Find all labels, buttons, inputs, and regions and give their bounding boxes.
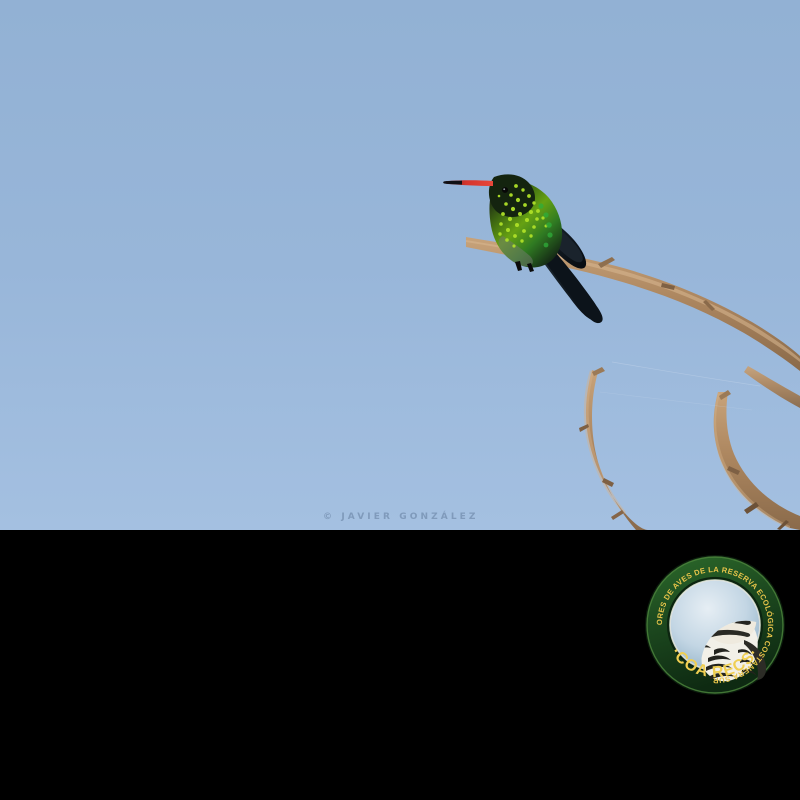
logo-badge: CLUB DE OBSERVADORES DE AVES DE LA RESER… xyxy=(644,554,786,696)
photographer-watermark: © JAVIER GONZÁLEZ xyxy=(323,512,479,522)
bird-photograph: © JAVIER GONZÁLEZ xyxy=(0,0,800,530)
photo-scene xyxy=(0,0,800,530)
footer-bar: Picaflor común - Chlorostilbon lucidus F… xyxy=(0,730,800,800)
coa-recs-logo[interactable]: CLUB DE OBSERVADORES DE AVES DE LA RESER… xyxy=(644,554,786,696)
photo-caption-card: © JAVIER GONZÁLEZ Picaflor común Glitter… xyxy=(0,0,800,800)
